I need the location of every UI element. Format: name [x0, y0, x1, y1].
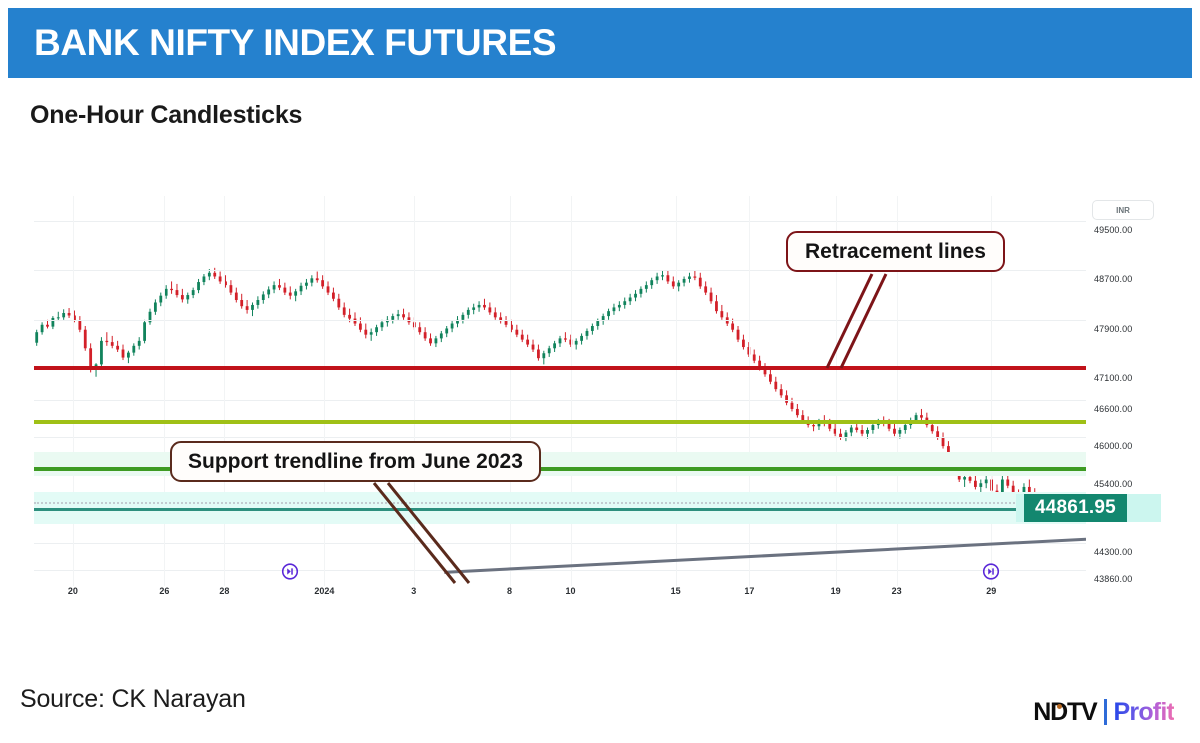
price-tick-label: 46000.00 — [1094, 441, 1132, 451]
gridline-vertical — [571, 196, 572, 586]
gridline-vertical — [414, 196, 415, 586]
retracement-lines-callout: Retracement lines — [786, 231, 1005, 272]
time-tick-label: 29 — [986, 586, 996, 596]
retracement-yellowgreen-line[interactable] — [34, 420, 1086, 424]
gridline-vertical — [324, 196, 325, 586]
time-tick-label: 2024 — [314, 586, 334, 596]
time-tick-label: 15 — [671, 586, 681, 596]
support-trendline-callout: Support trendline from June 2023 — [170, 441, 541, 482]
chart-subtitle: One-Hour Candlesticks — [30, 101, 302, 130]
gridline-vertical — [676, 196, 677, 586]
gridline-vertical — [164, 196, 165, 586]
price-tick-label: 47900.00 — [1094, 324, 1132, 334]
fast-forward-circle-icon[interactable] — [982, 562, 1001, 581]
time-tick-label: 28 — [219, 586, 229, 596]
gridline-horizontal — [34, 543, 1086, 544]
gridline-vertical — [224, 196, 225, 586]
time-tick-label: 26 — [159, 586, 169, 596]
currency-pill[interactable]: INR — [1092, 200, 1154, 220]
time-tick-label: 20 — [68, 586, 78, 596]
time-tick-label: 10 — [565, 586, 575, 596]
retracement-lines-callout-label: Retracement lines — [805, 240, 986, 264]
header-bar: BANK NIFTY INDEX FUTURES — [8, 8, 1192, 78]
gridline-horizontal — [34, 570, 1086, 571]
logo-profit-text: Profit — [1114, 698, 1174, 727]
time-tick-label: 17 — [744, 586, 754, 596]
logo-ndtv-text: NDTV — [1033, 698, 1096, 727]
time-tick-label: 3 — [411, 586, 416, 596]
price-tick-label: 48700.00 — [1094, 274, 1132, 284]
price-tick-label: 47100.00 — [1094, 373, 1132, 383]
fast-forward-circle-icon[interactable] — [280, 562, 299, 581]
price-tick-label: 46600.00 — [1094, 404, 1132, 414]
time-axis[interactable]: 202628202438101517192329 — [34, 586, 1086, 608]
retracement-red-line[interactable] — [34, 366, 1086, 370]
page-title: BANK NIFTY INDEX FUTURES — [8, 22, 556, 64]
slide-root: BANK NIFTY INDEX FUTURES One-Hour Candle… — [0, 0, 1200, 743]
gridline-horizontal — [34, 221, 1086, 222]
time-tick-label: 19 — [831, 586, 841, 596]
price-tick-label: 43860.00 — [1094, 574, 1132, 584]
gridline-horizontal — [34, 437, 1086, 438]
gridline-vertical — [749, 196, 750, 586]
gridline-horizontal — [34, 400, 1086, 401]
gridline-vertical — [510, 196, 511, 586]
gridline-vertical — [73, 196, 74, 586]
time-tick-label: 8 — [507, 586, 512, 596]
price-tick-label: 49500.00 — [1094, 225, 1132, 235]
time-tick-label: 23 — [892, 586, 902, 596]
price-tick-label: 45400.00 — [1094, 479, 1132, 489]
gridline-horizontal — [34, 320, 1086, 321]
price-tick-label: 44300.00 — [1094, 547, 1132, 557]
logo-divider — [1104, 699, 1107, 725]
ndtv-profit-logo: NDTV Profit — [1033, 697, 1174, 727]
last-price-dotted-line[interactable] — [34, 502, 1086, 504]
last-price-tag[interactable]: 44861.95 — [1024, 494, 1127, 522]
price-axis[interactable]: INR 49500.0048700.0047900.0047100.004660… — [1086, 196, 1200, 596]
support-trendline-callout-label: Support trendline from June 2023 — [188, 450, 523, 474]
retracement-teal-line[interactable] — [34, 508, 1086, 511]
source-credit: Source: CK Narayan — [20, 685, 246, 714]
